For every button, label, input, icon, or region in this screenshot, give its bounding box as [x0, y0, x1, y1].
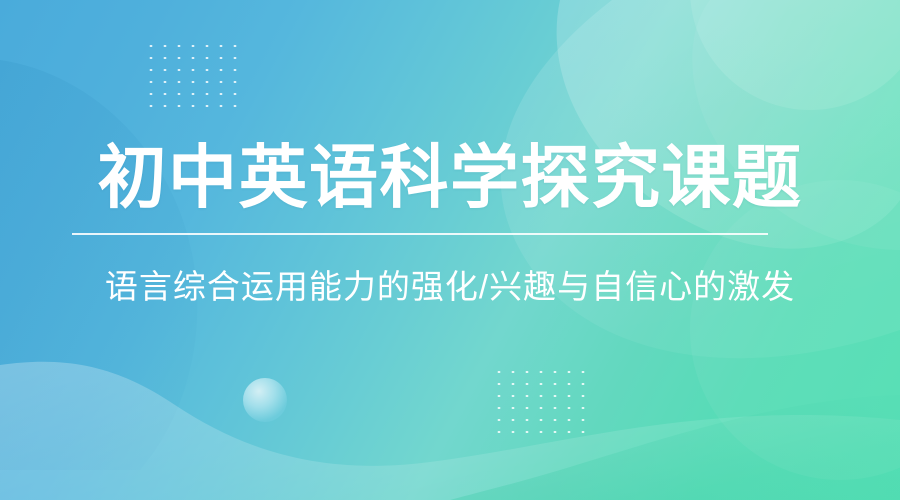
banner-subtitle: 语言综合运用能力的强化/兴趣与自信心的激发 [0, 263, 900, 311]
banner-text-block: 初中英语科学探究课题 语言综合运用能力的强化/兴趣与自信心的激发 [0, 0, 900, 500]
course-banner: 初中英语科学探究课题 语言综合运用能力的强化/兴趣与自信心的激发 [0, 0, 900, 500]
banner-title: 初中英语科学探究课题 [0, 137, 900, 219]
banner-divider [72, 233, 768, 235]
